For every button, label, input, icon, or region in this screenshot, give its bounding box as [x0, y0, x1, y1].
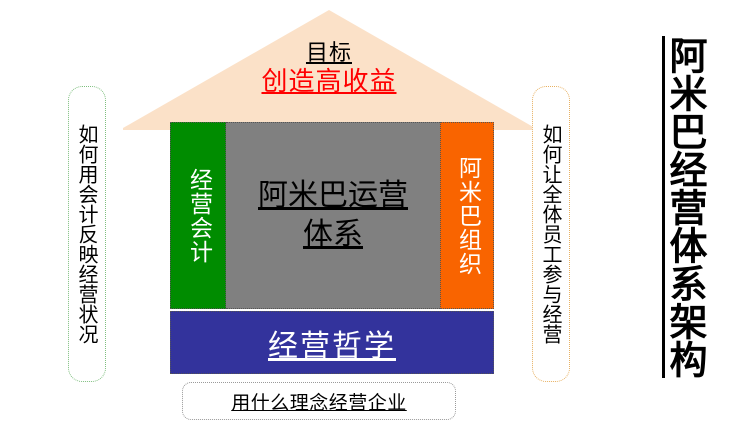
- right-pillar-label: 阿米巴组织: [456, 156, 479, 276]
- right-pillar-organization[interactable]: 阿米巴组织: [440, 122, 494, 309]
- diagram-title: 阿米巴经营体系架构: [655, 36, 715, 426]
- house-body: 经营会计 阿米巴运营 体系 阿米巴组织: [170, 122, 494, 309]
- callout-left[interactable]: 如何用会计反映经营状况: [68, 86, 106, 382]
- center-block-line1: 阿米巴运营: [258, 178, 408, 213]
- diagram-canvas: 目标 创造高收益 经营会计 阿米巴运营 体系 阿米巴组织 经营哲学 用什么理念经…: [0, 0, 735, 448]
- roof-shape: [123, 10, 535, 130]
- foundation-philosophy[interactable]: 经营哲学: [170, 311, 494, 374]
- left-pillar-label: 经营会计: [187, 168, 210, 264]
- callout-left-label: 如何用会计反映经营状况: [77, 124, 97, 344]
- center-block-line2: 体系: [258, 216, 408, 254]
- foundation-label: 经营哲学: [268, 321, 396, 365]
- center-block-text: 阿米巴运营 体系: [254, 177, 412, 254]
- center-block-operating-system[interactable]: 阿米巴运营 体系: [226, 122, 440, 309]
- roof-triangle-icon: [123, 10, 535, 130]
- caption-box[interactable]: 用什么理念经营企业: [182, 382, 456, 420]
- diagram-title-label: 阿米巴经营体系架构: [666, 36, 704, 378]
- caption-label: 用什么理念经营企业: [231, 388, 407, 415]
- left-pillar-accounting[interactable]: 经营会计: [170, 122, 226, 309]
- callout-right-label: 如何让全体员工参与经营: [541, 124, 561, 344]
- callout-right[interactable]: 如何让全体员工参与经营: [532, 86, 570, 382]
